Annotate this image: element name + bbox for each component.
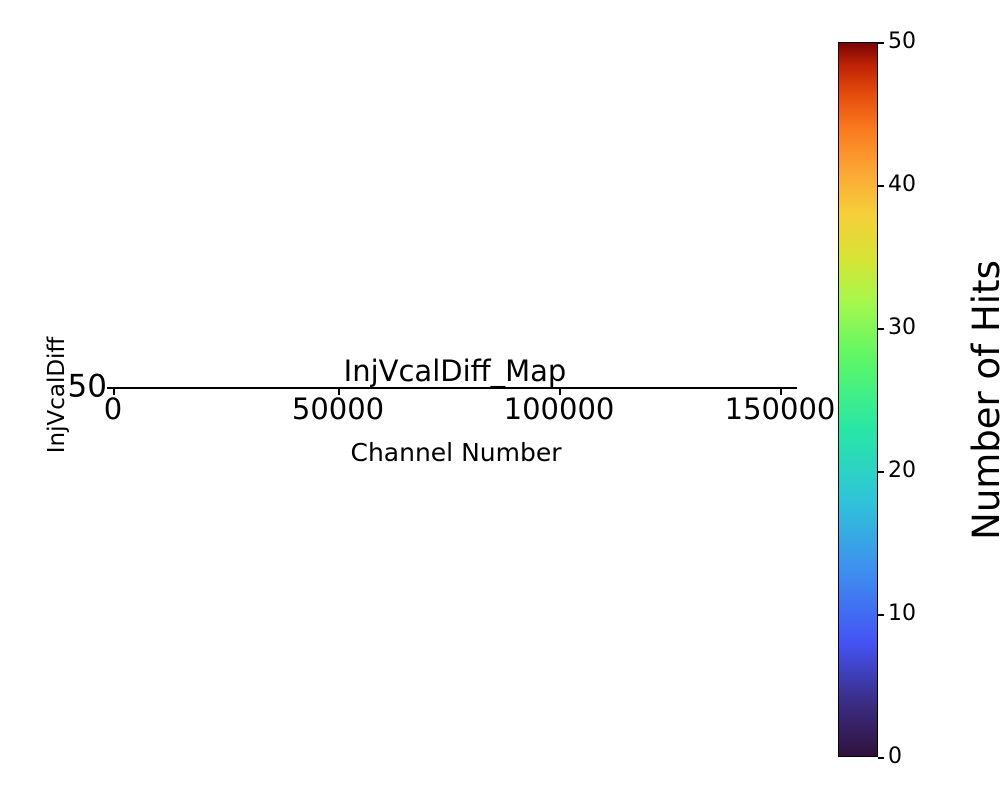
colorbar-tick-mark [878, 42, 884, 44]
y-axis-label: InjVcalDiff [46, 337, 69, 454]
colorbar-label: Number of Hits [968, 260, 1000, 540]
colorbar-tick-label: 50 [888, 31, 916, 53]
x-tick-label: 100000 [504, 395, 615, 424]
colorbar[interactable]: 0 10 20 30 40 50 [838, 42, 878, 757]
colorbar-tick-label: 0 [888, 746, 902, 768]
colorbar-tick-mark [878, 614, 884, 616]
colorbar-tick-mark [878, 757, 884, 759]
colorbar-tick-label: 30 [888, 317, 916, 339]
page-title: InjVcalDiff_Map [344, 357, 567, 386]
y-tick-label: 50 [68, 372, 107, 403]
colorbar-tick-mark [878, 185, 884, 187]
colorbar-gradient [838, 42, 878, 757]
x-axis-label: Channel Number [350, 440, 561, 465]
x-tick-label: 150000 [725, 395, 836, 424]
x-tick-label: 50000 [292, 395, 384, 424]
colorbar-tick-mark [878, 328, 884, 330]
figure-canvas: 0 50000 100000 150000 50 InjVcalDiff_Map… [0, 0, 1000, 800]
colorbar-tick-mark [878, 471, 884, 473]
y-tick-mark [107, 387, 113, 389]
colorbar-tick-label: 20 [888, 460, 916, 482]
colorbar-tick-label: 40 [888, 174, 916, 196]
colorbar-tick-label: 10 [888, 603, 916, 625]
